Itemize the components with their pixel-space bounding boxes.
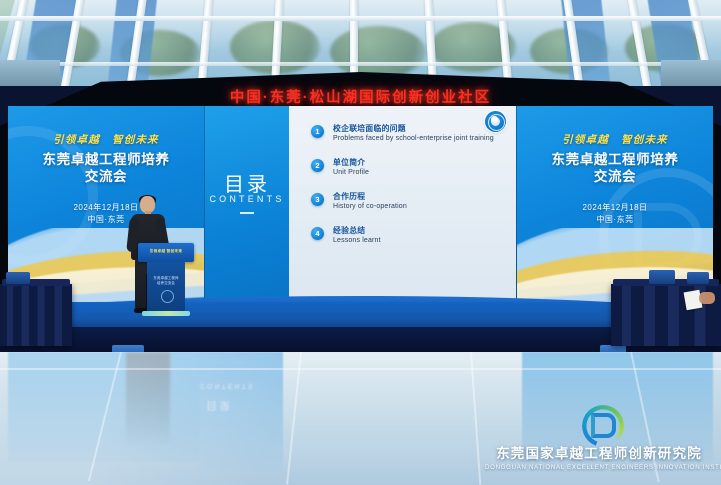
slide-title-line2: 交流会 <box>517 168 713 185</box>
tree-foliage <box>330 26 426 78</box>
podium-body: 东莞卓越工程师 培养交流会 <box>147 262 185 312</box>
slide-date: 2024年12月18日 <box>517 202 713 214</box>
slide-title-left: 东莞卓越工程师培养 交流会 <box>8 151 204 185</box>
list-item-title-cn: 合作历程 <box>333 192 407 202</box>
podium-base <box>142 311 190 316</box>
list-item-title-en: Problems faced by school-enterprise join… <box>333 135 494 144</box>
slide-slogan-right: 引领卓越 智创未来 <box>517 132 713 147</box>
ceiling-beam <box>0 62 721 66</box>
list-item-title-en: Unit Profile <box>333 169 369 178</box>
podium-logo-icon <box>161 290 174 303</box>
ceiling-beam <box>0 16 721 21</box>
list-item-number: 4 <box>311 227 324 240</box>
slide-location: 中国·东莞 <box>517 214 713 226</box>
podium: 引领卓越 智创未来 东莞卓越工程师 培养交流会 <box>144 243 188 316</box>
list-item-title-cn: 经验总结 <box>333 226 381 236</box>
side-wall <box>0 60 60 86</box>
podium-slogan-text: 引领卓越 智创未来 <box>138 249 194 254</box>
slogan-part-2: 智创未来 <box>112 134 159 146</box>
seat-block <box>649 270 675 284</box>
list-item-text: 经验总结 Lessons learnt <box>333 226 381 246</box>
reflection-contents-en: CONTENTS <box>200 382 255 389</box>
institution-seal-icon <box>485 111 506 132</box>
seal-ring <box>488 114 505 131</box>
attendee-hand <box>699 292 715 304</box>
led-banner-text: 中国·东莞·松山湖国际创新创业社区 <box>230 86 491 107</box>
draped-table-left <box>0 284 72 346</box>
contents-heading-cn: 目录 <box>205 168 289 197</box>
list-item-text: 校企联培面临的问题 Problems faced by school-enter… <box>333 124 494 144</box>
slide-slogan-left: 引领卓越 智创未来 <box>8 132 204 147</box>
seat-block <box>6 272 30 284</box>
slogan-part-1: 引领卓越 <box>53 134 100 146</box>
slogan-part-2: 智创未来 <box>621 134 668 146</box>
list-item-number: 1 <box>311 125 324 138</box>
list-item-text: 合作历程 History of co-operation <box>333 192 407 212</box>
slide-location: 中国·东莞 <box>8 214 204 226</box>
reflection-contents-cn: 目录 <box>206 398 232 414</box>
side-wall <box>661 60 721 86</box>
conference-photo: 中国·东莞·松山湖国际创新创业社区 引领卓越 智创未来 东莞卓越工程师培养 交流… <box>0 0 721 485</box>
list-item: 1 校企联培面临的问题 Problems faced by school-ent… <box>311 124 500 144</box>
institute-logo-icon <box>582 405 616 439</box>
contents-list: 1 校企联培面临的问题 Problems faced by school-ent… <box>289 106 516 302</box>
list-item-number: 3 <box>311 193 324 206</box>
slide-meta-right: 2024年12月18日 中国·东莞 <box>517 202 713 226</box>
list-item-title-en: History of co-operation <box>333 203 407 212</box>
slide-title-line1: 东莞卓越工程师培养 <box>8 151 204 168</box>
list-item: 4 经验总结 Lessons learnt <box>311 226 500 246</box>
podium-lectern-top: 引领卓越 智创未来 <box>138 243 194 262</box>
list-item: 3 合作历程 History of co-operation <box>311 192 500 212</box>
floor-tile-line <box>0 368 721 370</box>
led-wall: 引领卓越 智创未来 东莞卓越工程师培养 交流会 2024年12月18日 中国·东… <box>8 106 713 302</box>
list-item-title-en: Lessons learnt <box>333 237 381 246</box>
slide-date: 2024年12月18日 <box>8 202 204 214</box>
slide-title-line1: 东莞卓越工程师培养 <box>517 151 713 168</box>
seat-block <box>687 272 709 284</box>
slide-title-right: 东莞卓越工程师培养 交流会 <box>517 151 713 185</box>
slogan-part-1: 引领卓越 <box>562 134 609 146</box>
contents-heading-en: CONTENTS <box>205 194 289 204</box>
list-item: 2 单位简介 Unit Profile <box>311 158 500 178</box>
contents-heading-block: 目录 CONTENTS <box>205 106 289 302</box>
slide-meta-left: 2024年12月18日 中国·东莞 <box>8 202 204 226</box>
list-item-number: 2 <box>311 159 324 172</box>
podium-title-line2: 培养交流会 <box>147 281 185 286</box>
institute-name-en: DONGGUAN NATIONAL EXCELLENT ENGINEERS IN… <box>485 464 713 471</box>
led-banner: 中国·东莞·松山湖国际创新创业社区 <box>0 74 721 108</box>
list-item-text: 单位简介 Unit Profile <box>333 158 369 178</box>
slide-side-panel-right: 引领卓越 智创未来 东莞卓越工程师培养 交流会 2024年12月18日 中国·东… <box>516 106 713 302</box>
contents-heading-rule <box>240 212 254 214</box>
podium-title-text: 东莞卓越工程师 培养交流会 <box>147 276 185 286</box>
list-item-title-cn: 校企联培面临的问题 <box>333 124 494 134</box>
list-item-title-cn: 单位简介 <box>333 158 369 168</box>
logo-d-mark <box>591 413 616 438</box>
slide-contents-panel: 目录 CONTENTS 1 校企联培面临的问题 Problems faced b… <box>205 106 516 302</box>
reflection-speaker <box>126 352 170 448</box>
institute-watermark: 东莞国家卓越工程师创新研究院 DONGGUAN NATIONAL EXCELLE… <box>485 405 713 471</box>
slide-title-line2: 交流会 <box>8 168 204 185</box>
